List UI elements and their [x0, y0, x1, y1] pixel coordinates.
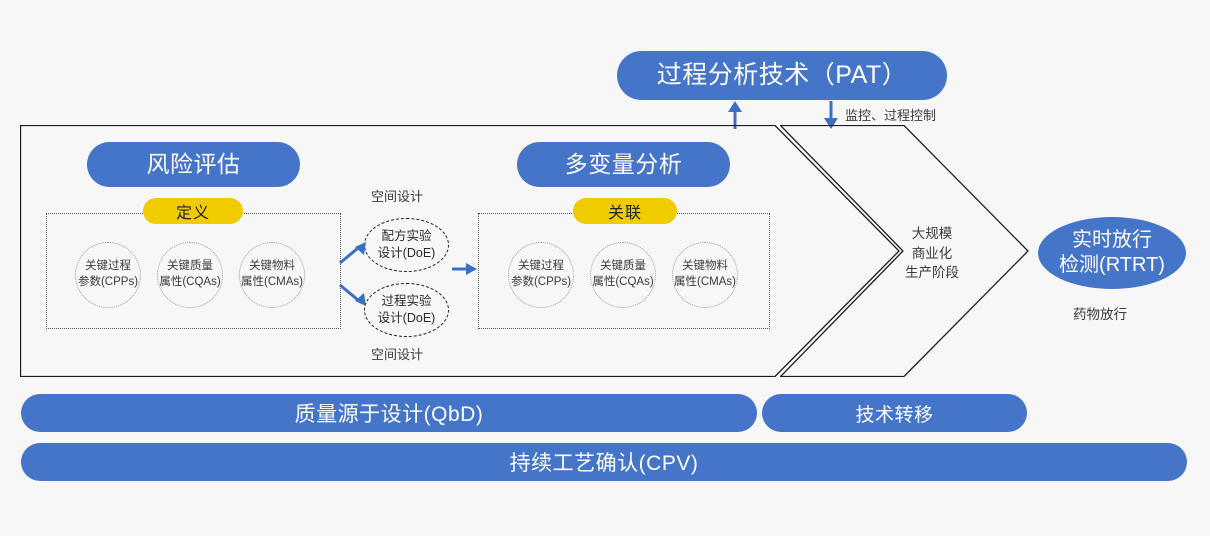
risk-assessment-pill[interactable]: 风险评估 — [87, 142, 300, 187]
circle-label-line1: 关键质量 — [600, 259, 646, 275]
tech-transfer-bar[interactable]: 技术转移 — [762, 394, 1027, 432]
arrow-right-icon-to-formulation-doe — [339, 240, 369, 266]
design-space-bottom-label: 空间设计 — [371, 344, 423, 363]
circle-label-line2: 属性(CQAs) — [592, 275, 653, 291]
scale-up-line2: 商业化 — [905, 244, 959, 264]
circle-label-line2: 属性(CMAs) — [241, 275, 303, 291]
risk-assessment-label: 风险评估 — [147, 151, 241, 177]
rtrt-node[interactable]: 实时放行 检测(RTRT) — [1038, 217, 1186, 289]
rtrt-label-line2: 检测(RTRT) — [1059, 253, 1165, 278]
rtrt-label-line1: 实时放行 — [1072, 228, 1152, 253]
pat-label: 过程分析技术（PAT） — [657, 61, 907, 90]
doe-label-line2: 设计(DoE) — [378, 245, 436, 262]
cpv-bar-label: 持续工艺确认(CPV) — [510, 447, 699, 477]
scale-up-line1: 大规模 — [905, 224, 959, 244]
qbd-bar-label: 质量源于设计(QbD) — [295, 398, 484, 428]
circle-label-line1: 关键物料 — [249, 259, 295, 275]
circle-label-line2: 参数(CPPs) — [78, 275, 138, 291]
circle-label-line1: 关键质量 — [167, 259, 213, 275]
arrow-right-icon-to-relate-group — [452, 262, 478, 276]
circle-label-line1: 关键物料 — [682, 259, 728, 275]
circle-label-line2: 参数(CPPs) — [511, 275, 571, 291]
multivariate-analysis-label: 多变量分析 — [565, 151, 683, 177]
circle-label-line2: 属性(CMAs) — [674, 275, 736, 291]
circle-cpps-left[interactable]: 关键过程 参数(CPPs) — [75, 242, 141, 308]
doe-label-line2: 设计(DoE) — [378, 310, 436, 327]
relate-badge-label: 关联 — [608, 199, 642, 223]
arrow-right-icon-to-process-doe — [339, 282, 369, 308]
multivariate-analysis-pill[interactable]: 多变量分析 — [517, 142, 730, 187]
doe-label-line1: 过程实验 — [381, 293, 431, 310]
pat-pill[interactable]: 过程分析技术（PAT） — [617, 51, 947, 100]
drug-release-label: 药物放行 — [1073, 303, 1127, 323]
circle-cqas-right[interactable]: 关键质量 属性(CQAs) — [590, 242, 656, 308]
scale-up-stage-label: 大规模 商业化 生产阶段 — [905, 224, 959, 283]
process-doe-node[interactable]: 过程实验 设计(DoE) — [364, 283, 449, 337]
circle-cmas-right[interactable]: 关键物料 属性(CMAs) — [672, 242, 738, 308]
define-badge-label: 定义 — [176, 199, 210, 223]
relate-badge[interactable]: 关联 — [573, 198, 677, 224]
doe-label-line1: 配方实验 — [381, 228, 431, 245]
circle-cmas-left[interactable]: 关键物料 属性(CMAs) — [239, 242, 305, 308]
qbd-bar[interactable]: 质量源于设计(QbD) — [21, 394, 757, 432]
circle-cpps-right[interactable]: 关键过程 参数(CPPs) — [508, 242, 574, 308]
diagram-canvas: 过程分析技术（PAT） 监控、过程控制 风险评估 多变量分析 — [0, 0, 1210, 536]
circle-cqas-left[interactable]: 关键质量 属性(CQAs) — [157, 242, 223, 308]
formulation-doe-node[interactable]: 配方实验 设计(DoE) — [364, 218, 449, 272]
circle-label-line2: 属性(CQAs) — [159, 275, 220, 291]
monitor-control-label: 监控、过程控制 — [845, 105, 936, 124]
cpv-bar[interactable]: 持续工艺确认(CPV) — [21, 443, 1187, 481]
circle-label-line1: 关键过程 — [85, 259, 131, 275]
scale-up-line3: 生产阶段 — [905, 263, 959, 283]
tech-transfer-bar-label: 技术转移 — [855, 400, 933, 427]
design-space-top-label: 空间设计 — [371, 186, 423, 205]
define-badge[interactable]: 定义 — [143, 198, 243, 224]
circle-label-line1: 关键过程 — [518, 259, 564, 275]
